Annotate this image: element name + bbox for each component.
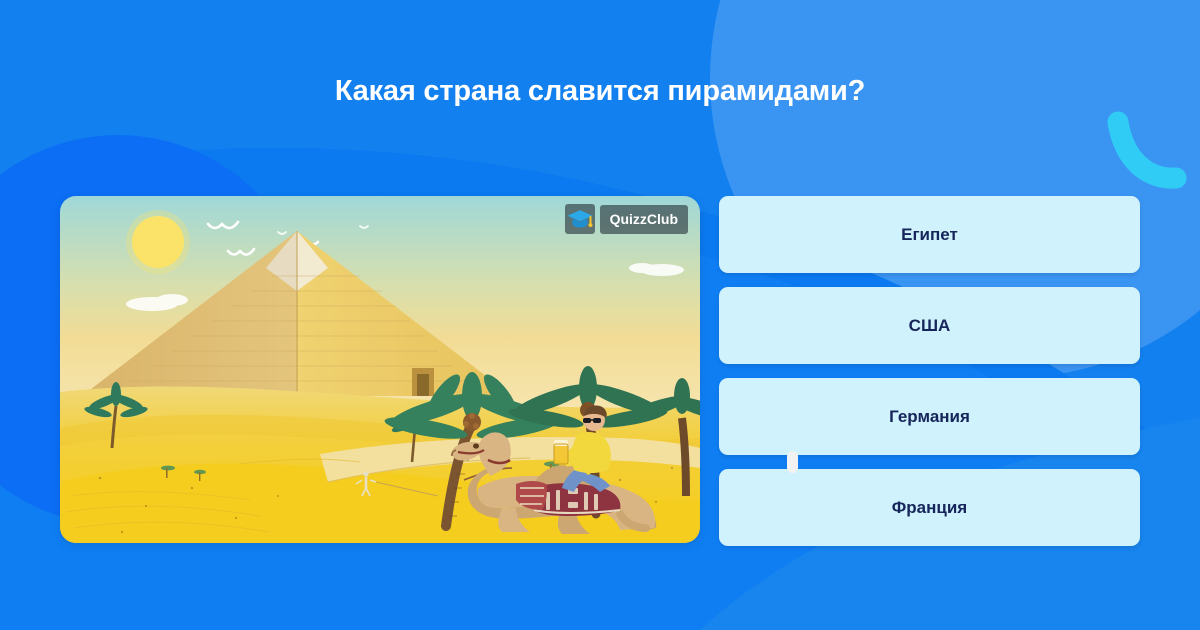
answer-option-1[interactable]: Египет	[719, 196, 1140, 273]
answer-option-2[interactable]: США	[719, 287, 1140, 364]
watermark-badge: QuizzClub	[565, 204, 688, 234]
question-image-card: QuizzClub	[60, 196, 700, 543]
answer-options-list: Египет США Германия Франция	[719, 196, 1140, 560]
answer-option-4[interactable]: Франция	[719, 469, 1140, 546]
answer-option-4-label: Франция	[892, 498, 967, 518]
scroll-marker[interactable]	[787, 451, 798, 473]
question-title: Какая страна славится пирамидами?	[0, 72, 1200, 110]
graduation-cap-icon	[565, 204, 595, 234]
quiz-page: Какая страна славится пирамидами?	[0, 0, 1200, 630]
answer-option-3[interactable]: Германия	[719, 378, 1140, 455]
answer-option-2-label: США	[909, 316, 951, 336]
watermark-label: QuizzClub	[600, 205, 688, 234]
answer-option-3-label: Германия	[889, 407, 970, 427]
desert-pyramid-illustration	[60, 196, 700, 543]
answer-option-1-label: Египет	[901, 225, 958, 245]
